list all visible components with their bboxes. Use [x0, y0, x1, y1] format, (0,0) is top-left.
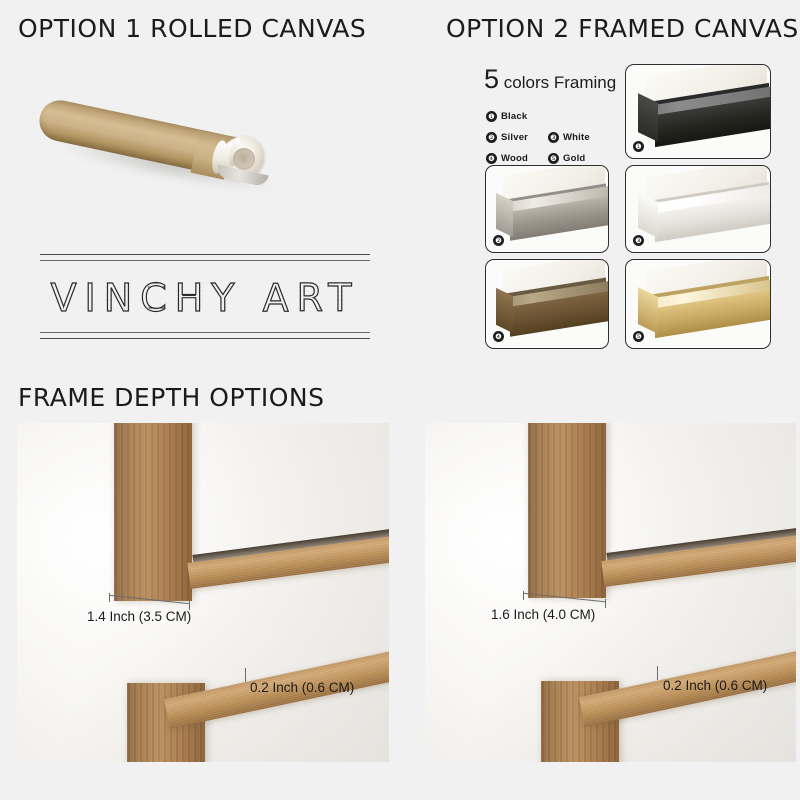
dimension-line-depth — [657, 666, 658, 680]
badge-5-icon: ❺ — [548, 153, 559, 164]
framing-color-count: 5 — [484, 64, 499, 94]
logo-rule-bottom — [40, 338, 370, 339]
framing-colors-title: 5 colors Framing — [484, 64, 616, 95]
frame-vertical-rail — [528, 423, 606, 598]
badge-1-icon: ❶ — [633, 141, 644, 152]
frame-depth-label: 0.2 Inch (0.6 CM) — [250, 680, 354, 695]
frame-vertical-rail — [114, 423, 192, 601]
option-2-heading: OPTION 2 FRAMED CANVAS — [446, 14, 799, 43]
frame-side-return — [496, 288, 513, 333]
tube-inner-core — [233, 148, 255, 170]
badge-3-icon: ❸ — [633, 235, 644, 246]
white-frame-sample[interactable]: ❸ — [625, 165, 771, 253]
logo-rule-bottom — [40, 332, 370, 333]
gold-frame-sample[interactable]: ❺ — [625, 259, 771, 349]
legend-label: Wood — [501, 153, 528, 164]
frame-depth-heading: FRAME DEPTH OPTIONS — [18, 383, 324, 412]
frame-depth-label: 0.2 Inch (0.6 CM) — [663, 678, 767, 693]
frame-side-return — [496, 193, 513, 237]
legend-item-black: ❶ Black — [486, 111, 548, 122]
frame-depth-photo-1-4-inch: 1.4 Inch (3.5 CM) 0.2 Inch (0.6 CM) — [17, 423, 389, 762]
option-1-heading: OPTION 1 ROLLED CANVAS — [18, 14, 366, 43]
legend-row: ❷ Silver ❸ White — [486, 129, 611, 146]
frame-width-label: 1.6 Inch (4.0 CM) — [491, 607, 595, 622]
badge-4-icon: ❹ — [493, 331, 504, 342]
badge-4-icon: ❹ — [486, 153, 497, 164]
silver-frame-sample[interactable]: ❷ — [485, 165, 609, 253]
legend-label: Black — [501, 111, 527, 122]
brand-logo-text: VINCHY ART — [40, 274, 370, 322]
badge-5-icon: ❺ — [633, 331, 644, 342]
badge-2-icon: ❷ — [486, 132, 497, 143]
frame-depth-photo-1-6-inch: 1.6 Inch (4.0 CM) 0.2 Inch (0.6 CM) — [425, 423, 796, 762]
framing-color-legend: ❶ Black ❷ Silver ❸ White ❹ Wood ❺ Gold — [486, 108, 611, 171]
legend-label: Gold — [563, 153, 585, 164]
legend-item-wood: ❹ Wood — [486, 153, 548, 164]
rolled-canvas-photo — [24, 58, 324, 208]
dimension-line-depth — [245, 668, 246, 682]
wood-frame-sample[interactable]: ❹ — [485, 259, 609, 349]
logo-rule-top — [40, 254, 370, 255]
black-frame-sample[interactable]: ❶ — [625, 64, 771, 159]
legend-item-gold: ❺ Gold — [548, 153, 610, 164]
legend-item-white: ❸ White — [548, 132, 610, 143]
logo-rule-top — [40, 260, 370, 261]
frame-side-return — [638, 94, 658, 143]
legend-label: White — [563, 132, 590, 143]
frame-width-label: 1.4 Inch (3.5 CM) — [87, 609, 191, 624]
legend-row: ❶ Black — [486, 108, 611, 125]
brand-logo: VINCHY ART — [40, 248, 370, 346]
badge-1-icon: ❶ — [486, 111, 497, 122]
dimension-tick — [605, 599, 606, 608]
badge-3-icon: ❸ — [548, 132, 559, 143]
framing-title-rest: colors Framing — [499, 73, 616, 92]
legend-label: Silver — [501, 132, 528, 143]
legend-item-silver: ❷ Silver — [486, 132, 548, 143]
badge-2-icon: ❷ — [493, 235, 504, 246]
